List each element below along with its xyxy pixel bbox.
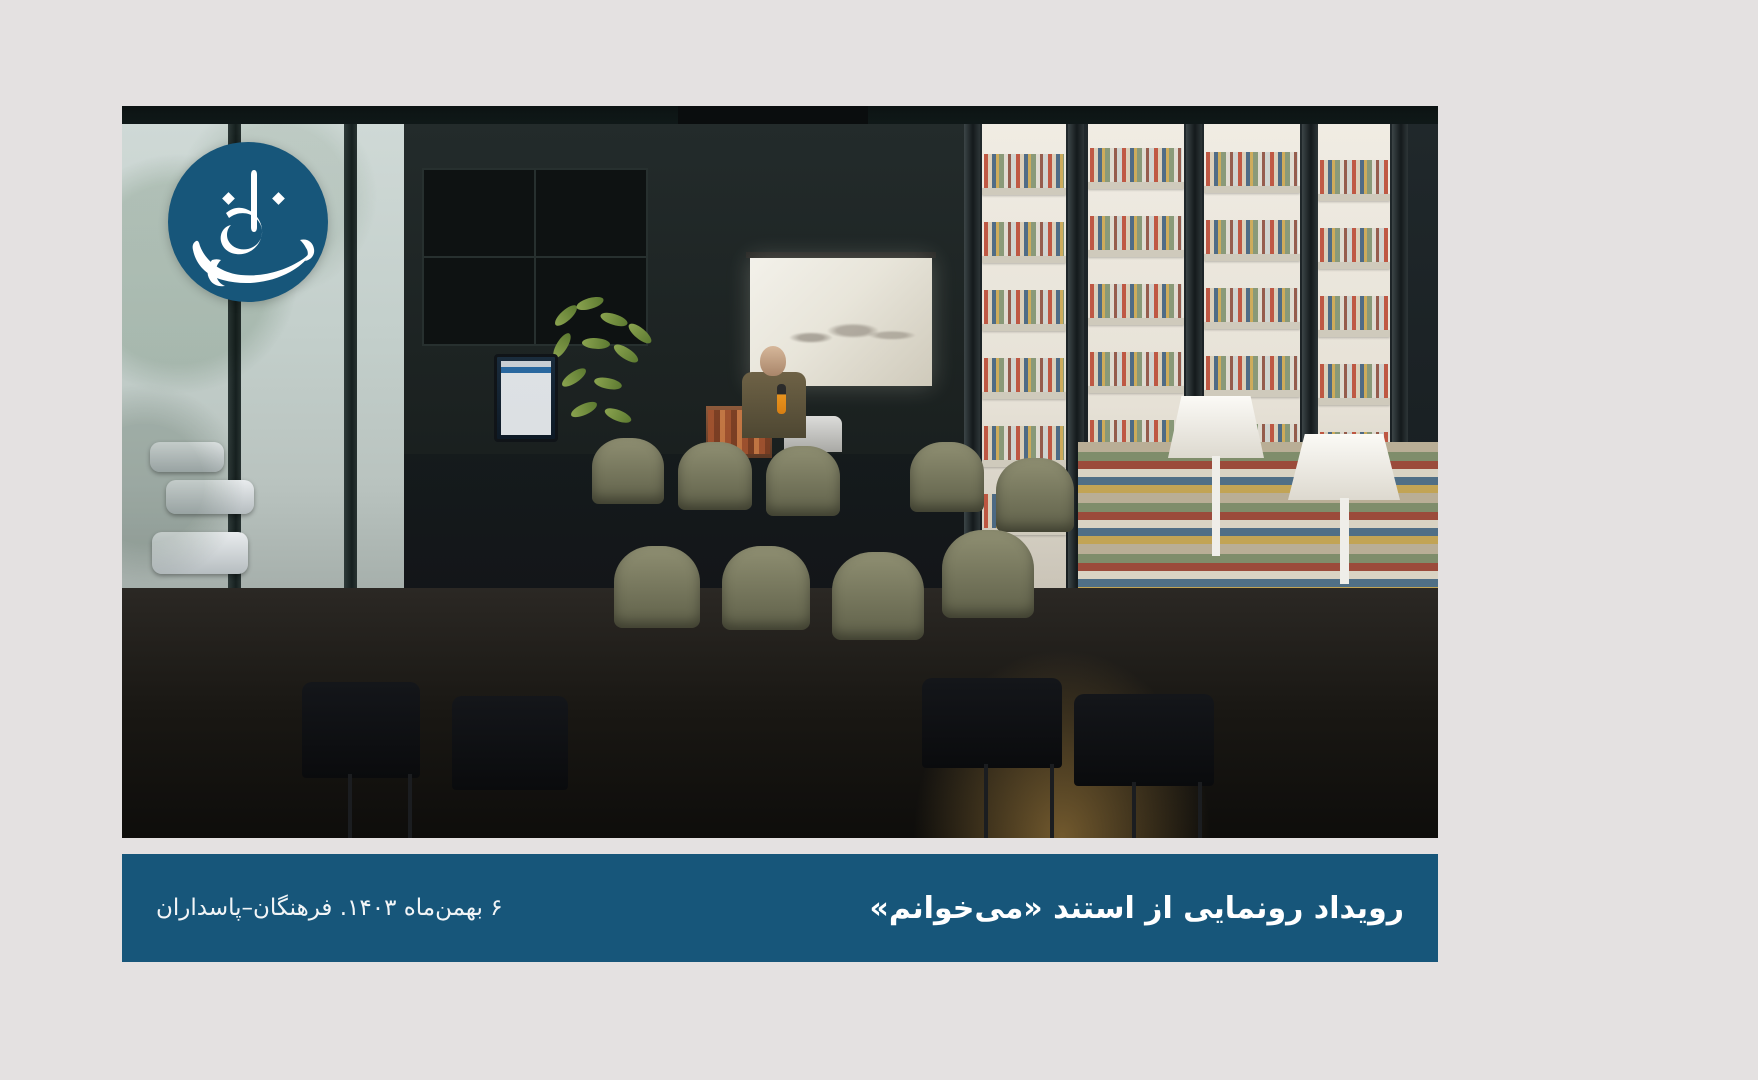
chair xyxy=(614,546,700,628)
projected-calligraphy xyxy=(766,310,916,356)
chair xyxy=(1074,694,1214,786)
street-car xyxy=(166,480,254,514)
kiosk-screen xyxy=(501,361,551,435)
microphone xyxy=(777,384,786,414)
caption-bar: رویداد رونمایی از استند «می‌خوانم» ۶ بهم… xyxy=(122,854,1438,962)
chair xyxy=(922,678,1062,768)
chair xyxy=(996,458,1074,532)
chair-leg xyxy=(348,774,352,838)
caption-meta: ۶ بهمن‌ماه ۱۴۰۳. فرهنگان–پاسداران xyxy=(156,895,503,921)
mikhanam-logo xyxy=(168,142,328,302)
caption-title: رویداد رونمایی از استند «می‌خوانم» xyxy=(870,891,1405,926)
chair xyxy=(942,530,1034,618)
lamp-shade xyxy=(1288,434,1400,500)
indoor-plant xyxy=(542,292,672,442)
mikhanam-logo-calligraphy xyxy=(168,142,328,302)
digital-kiosk xyxy=(494,354,558,442)
chair-leg xyxy=(984,764,988,838)
chair-leg xyxy=(408,774,412,838)
chair-leg xyxy=(1132,782,1136,838)
speaker-head xyxy=(760,346,786,376)
chair xyxy=(832,552,924,640)
street-car xyxy=(152,532,248,574)
chair xyxy=(302,682,420,778)
event-photograph xyxy=(122,106,1438,838)
speaker-body xyxy=(742,372,806,438)
chair-leg xyxy=(1198,782,1202,838)
chair xyxy=(766,446,840,516)
cabinet-shelf xyxy=(422,168,536,258)
chair xyxy=(452,696,568,790)
chair-leg xyxy=(1050,764,1054,838)
page-root: رویداد رونمایی از استند «می‌خوانم» ۶ بهم… xyxy=(0,0,1758,1080)
street-car xyxy=(150,442,224,472)
cabinet-shelf xyxy=(422,256,536,346)
lamp-stem xyxy=(1212,456,1220,556)
cabinet-shelf xyxy=(534,168,648,258)
lamp-shade xyxy=(1168,396,1264,458)
lamp-stem xyxy=(1340,498,1349,584)
chair xyxy=(722,546,810,630)
chair xyxy=(592,438,664,504)
chair xyxy=(678,442,752,510)
chair xyxy=(910,442,984,512)
